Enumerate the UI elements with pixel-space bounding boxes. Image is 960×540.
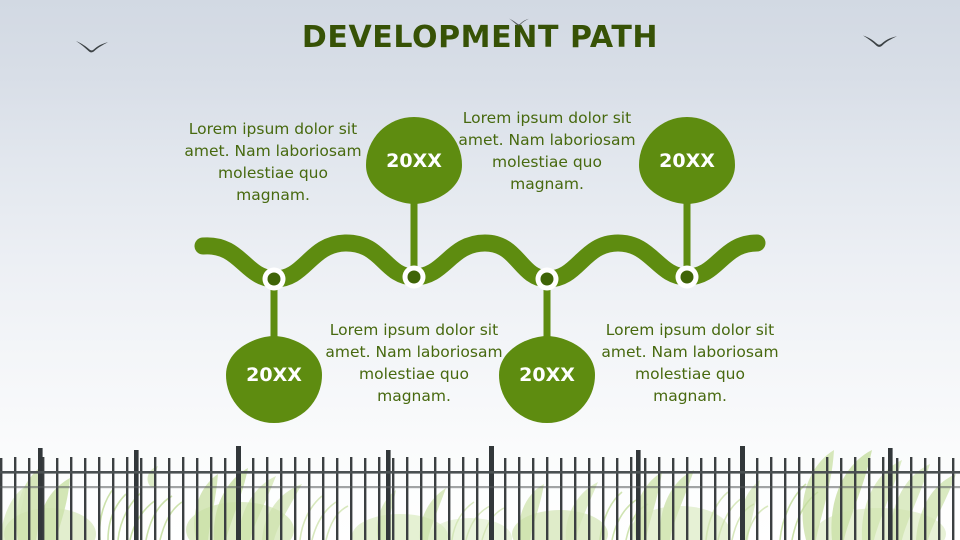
- milestone-2-year: 20XX: [386, 150, 442, 172]
- node-marker-2[interactable]: [403, 266, 426, 289]
- milestone-2-description: Lorem ipsum dolor sit amet. Nam laborios…: [455, 107, 639, 195]
- fence-rail-top: [0, 471, 960, 474]
- bottom-scenery: [0, 430, 960, 540]
- slide-canvas: DEVELOPMENT PATH 20XX: [0, 0, 960, 540]
- timeline-wave-path: [203, 243, 757, 279]
- milestone-3-year: 20XX: [519, 364, 575, 386]
- timeline-node-markers: [263, 266, 699, 291]
- milestone-3-balloon[interactable]: 20XX: [499, 336, 595, 423]
- node-marker-4[interactable]: [676, 266, 699, 289]
- milestone-4-year: 20XX: [659, 150, 715, 172]
- node-marker-1[interactable]: [263, 268, 286, 291]
- milestone-4-balloon[interactable]: 20XX: [639, 117, 735, 204]
- fence-rail-lower: [0, 486, 960, 488]
- milestone-1-description: Lorem ipsum dolor sit amet. Nam laborios…: [181, 118, 365, 206]
- milestone-1-balloon[interactable]: 20XX: [226, 336, 322, 423]
- milestone-4-description: Lorem ipsum dolor sit amet. Nam laborios…: [598, 319, 782, 407]
- node-marker-3[interactable]: [536, 268, 559, 291]
- milestone-1-year: 20XX: [246, 364, 302, 386]
- milestone-3-description: Lorem ipsum dolor sit amet. Nam laborios…: [322, 319, 506, 407]
- milestone-2-balloon[interactable]: 20XX: [366, 117, 462, 204]
